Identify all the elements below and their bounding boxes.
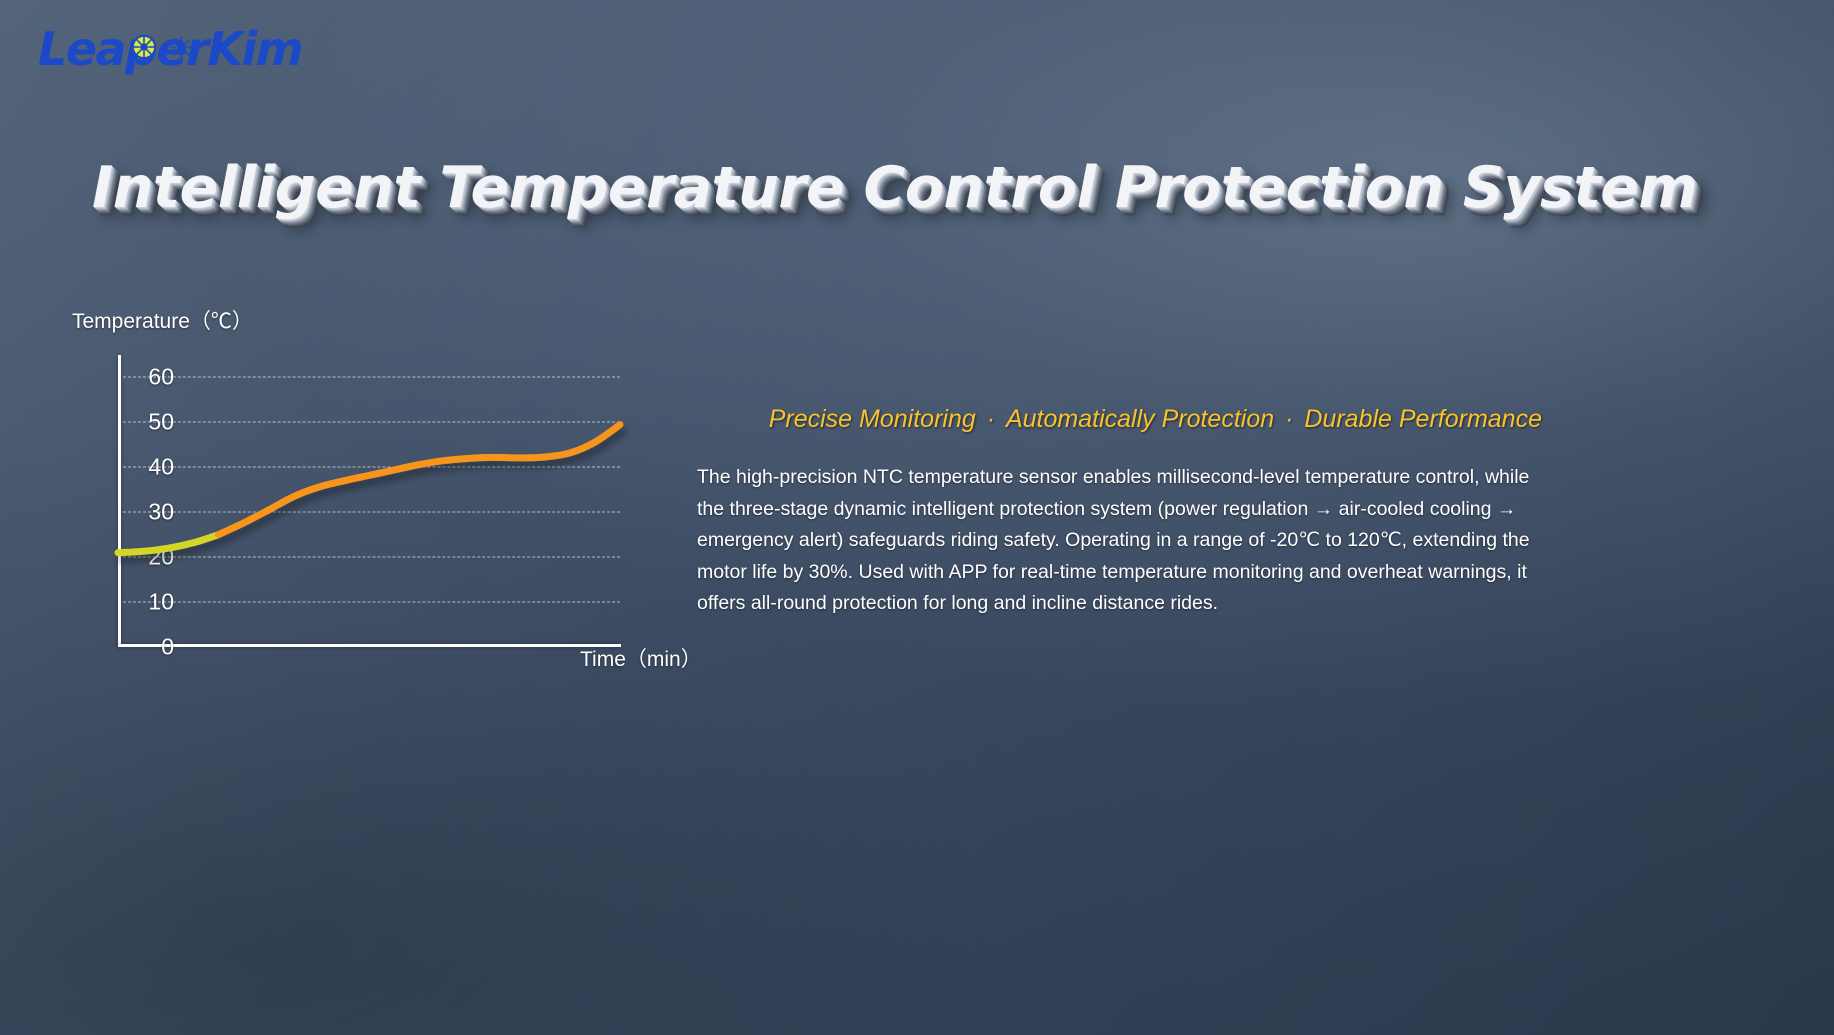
body-paragraph: The high-precision NTC temperature senso… xyxy=(697,462,1542,620)
temperature-chart: Temperature（℃） 6050403020100 Time（min） xyxy=(60,305,740,695)
wheel-icon-secondary xyxy=(169,35,194,60)
chart-y-axis-label: Temperature（℃） xyxy=(72,305,253,335)
wheel-icon xyxy=(130,33,158,61)
chart-series-line xyxy=(60,341,740,671)
tagline: Precise Monitoring · Automatically Prote… xyxy=(697,405,1542,434)
tagline-part-2: Automatically Protection xyxy=(1006,405,1274,433)
slide-canvas: LeaperKim Intelligent Temperature Contro… xyxy=(0,0,1834,1035)
brand-logo: LeaperKim xyxy=(38,22,302,76)
chart-plot-area: 6050403020100 xyxy=(60,341,740,671)
description-column: Precise Monitoring · Automatically Prote… xyxy=(697,405,1542,620)
chart-x-axis-label: Time（min） xyxy=(580,643,702,673)
tagline-part-3: Durable Performance xyxy=(1304,405,1542,433)
tagline-separator: · xyxy=(1274,405,1304,433)
tagline-separator: · xyxy=(976,405,1006,433)
tagline-part-1: Precise Monitoring xyxy=(769,405,976,433)
page-title: Intelligent Temperature Control Protecti… xyxy=(92,155,1697,221)
